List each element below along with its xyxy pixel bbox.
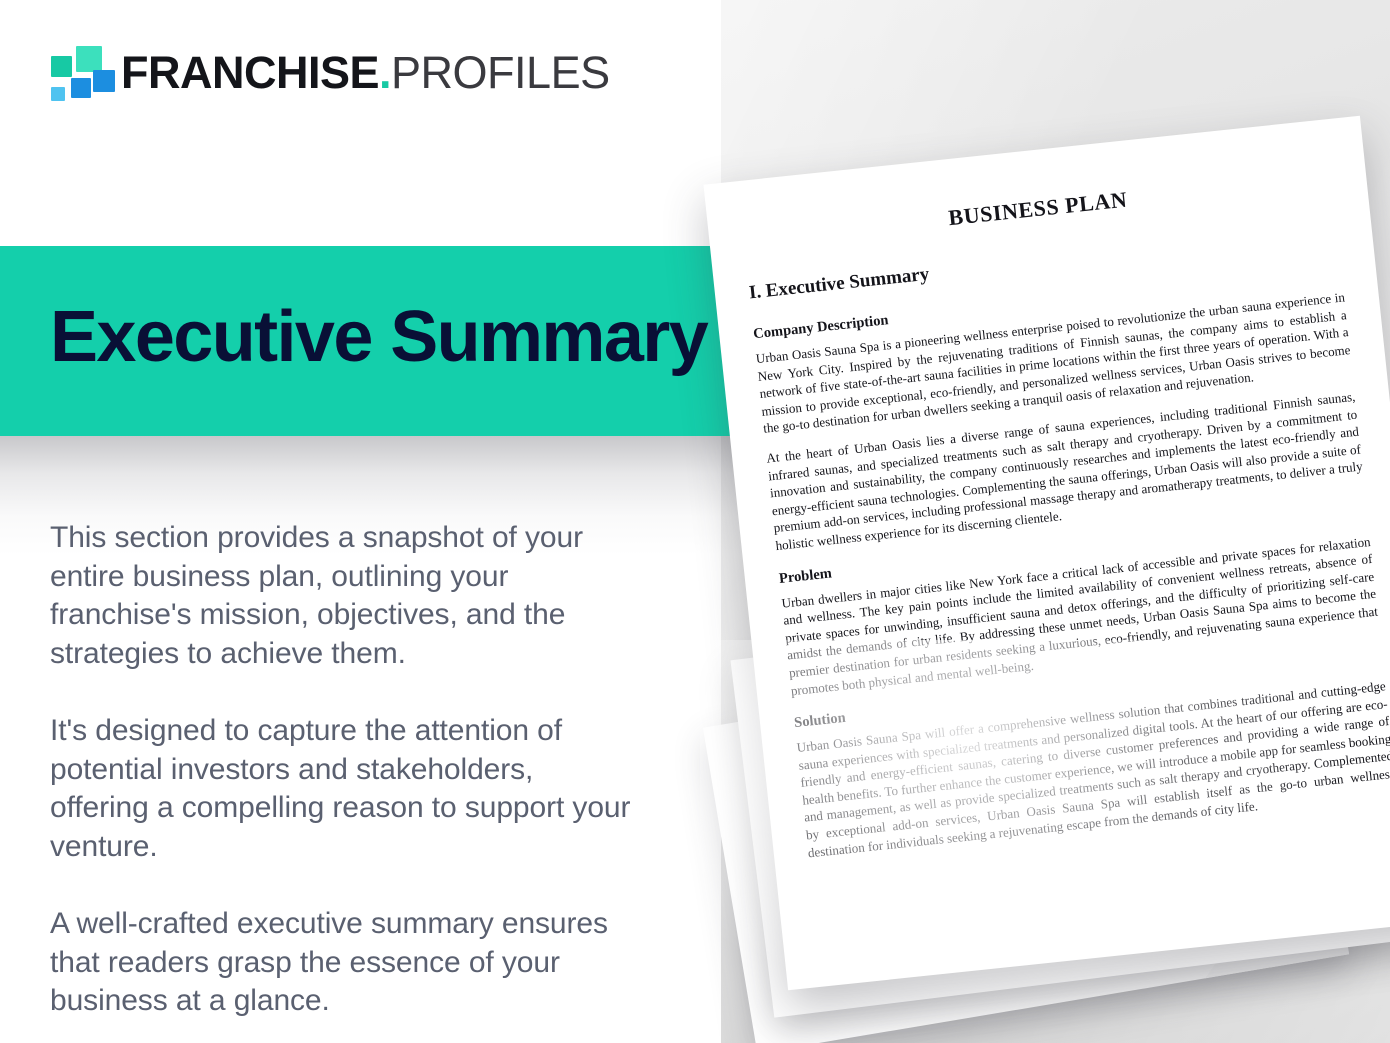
body-paragraph-3: A well-crafted executive summary ensures… <box>50 905 635 1021</box>
page-title: Executive Summary <box>50 296 707 378</box>
brand-logo: FRANCHISE.PROFILES <box>45 44 545 106</box>
logo-squares-icon <box>45 44 107 102</box>
document-page-front-content: BUSINESS PLAN I. Executive Summary Compa… <box>703 116 1390 991</box>
document-page-front: BUSINESS PLAN I. Executive Summary Compa… <box>703 116 1390 991</box>
logo-wordmark-light: PROFILES <box>391 47 610 98</box>
doc-section-company-description: Company Description Urban Oasis Sauna Sp… <box>753 264 1366 554</box>
body-copy: This section provides a snapshot of your… <box>50 519 635 1021</box>
logo-wordmark: FRANCHISE.PROFILES <box>121 42 610 104</box>
body-paragraph-1: This section provides a snapshot of your… <box>50 519 635 673</box>
logo-square-blue-light-icon <box>51 87 65 101</box>
logo-square-teal-light-icon <box>76 46 102 72</box>
logo-wordmark-bold: FRANCHISE <box>121 47 379 98</box>
logo-square-blue-mid-icon <box>71 78 91 98</box>
logo-square-teal-dark-icon <box>51 56 72 77</box>
logo-wordmark-dot: . <box>379 47 391 98</box>
logo-square-blue-right-icon <box>93 70 115 92</box>
slide-root: FRANCHISE.PROFILES Executive Summary Thi… <box>0 0 1390 1043</box>
body-paragraph-2: It's designed to capture the attention o… <box>50 712 635 866</box>
document-stack-image: Solution Urban Oasis Sauna Spa will offe… <box>700 120 1390 1043</box>
